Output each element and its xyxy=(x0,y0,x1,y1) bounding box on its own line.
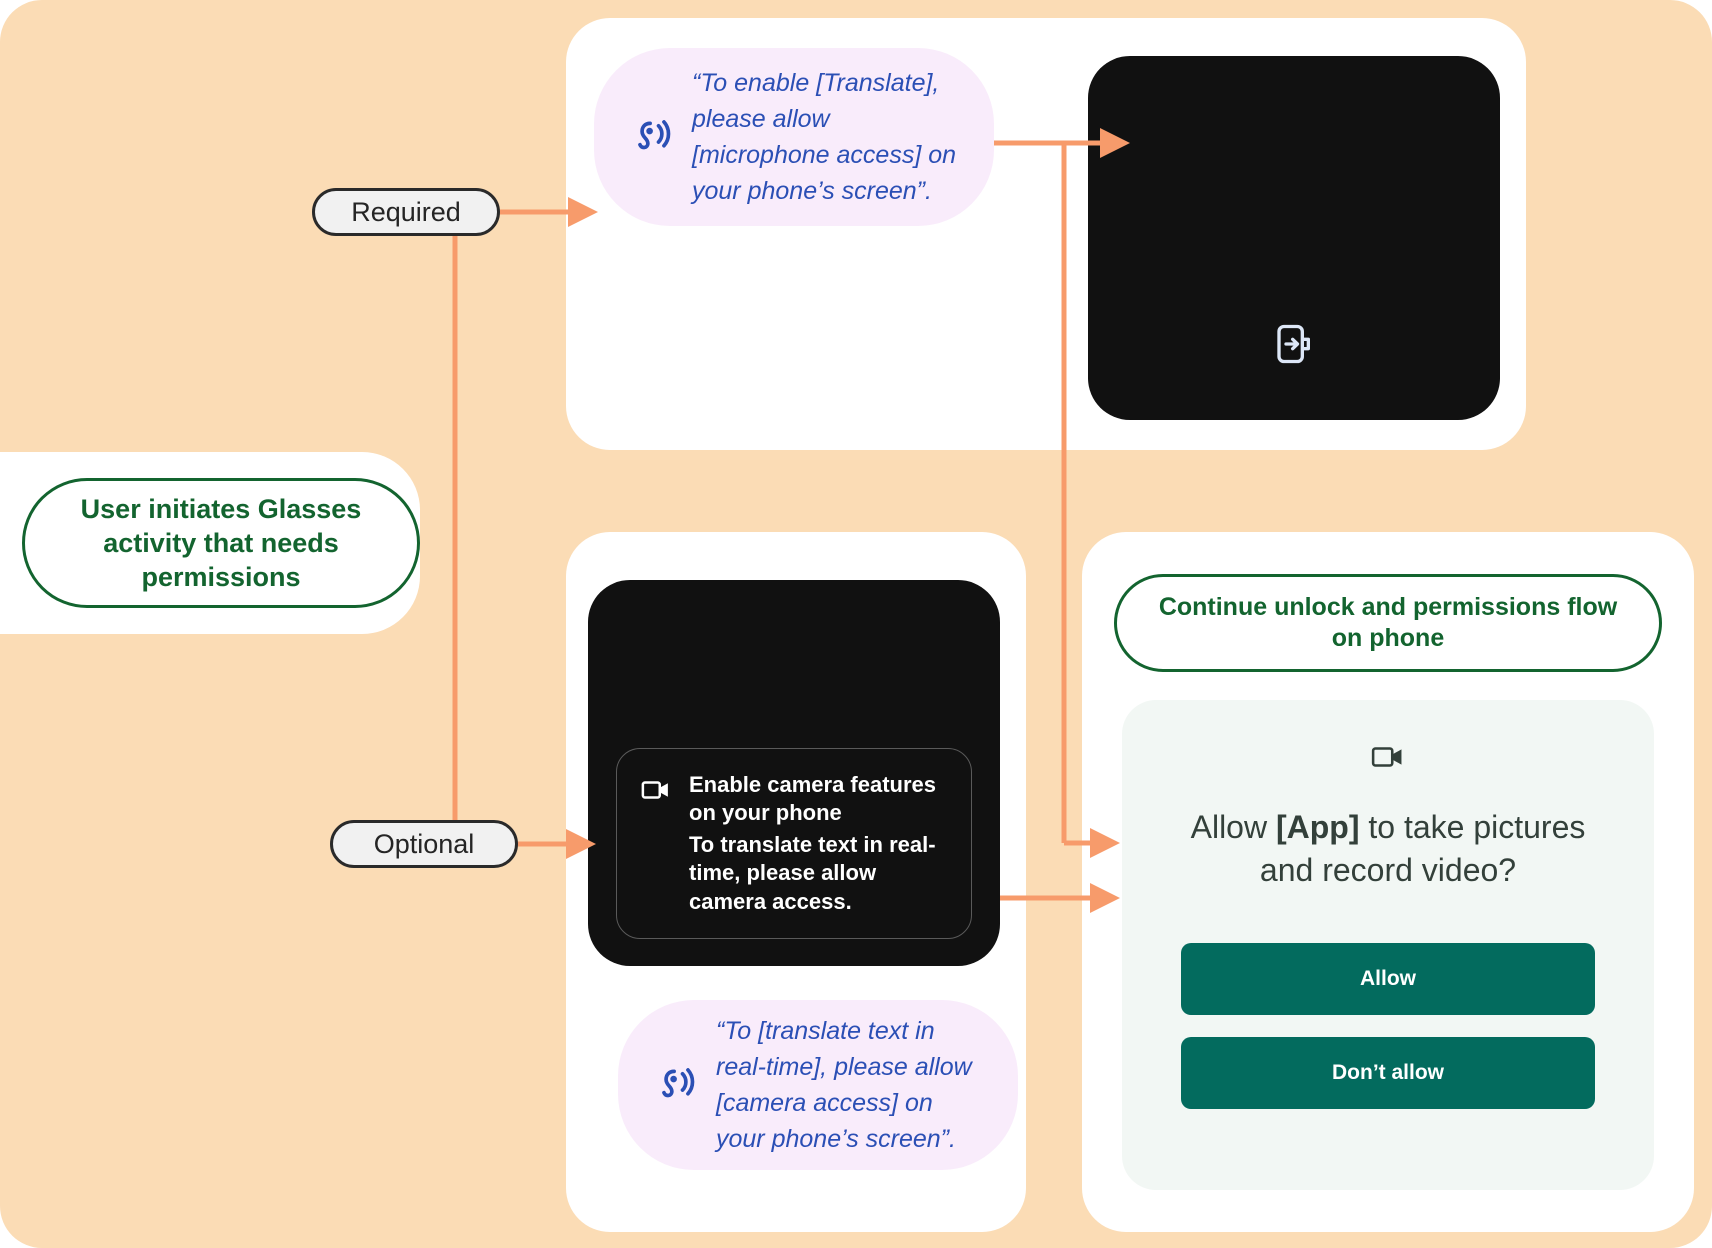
branch-pill-optional[interactable]: Optional xyxy=(330,820,518,868)
permission-title-prefix: Allow xyxy=(1191,809,1276,845)
camera-permission-toast: Enable camera features on your phone To … xyxy=(616,748,972,939)
continue-unlock-node[interactable]: Continue unlock and permissions flow on … xyxy=(1114,574,1662,672)
start-node[interactable]: User initiates Glasses activity that nee… xyxy=(22,478,420,608)
exit-to-phone-icon-wrap xyxy=(1274,322,1314,366)
speech-bubble-microphone: “To enable [Translate], please allow [mi… xyxy=(594,48,994,226)
glasses-screen-required xyxy=(1088,56,1500,420)
speech-bubble-camera: “To [translate text in real-time], pleas… xyxy=(618,1000,1018,1170)
speech-bubble-camera-text: “To [translate text in real-time], pleas… xyxy=(716,1013,982,1157)
exit-to-phone-icon xyxy=(1274,322,1314,366)
video-camera-icon xyxy=(641,775,671,805)
android-permission-dialog: Allow [App] to take pictures and record … xyxy=(1122,700,1654,1190)
branch-pill-required[interactable]: Required xyxy=(312,188,500,236)
permission-dialog-title: Allow [App] to take pictures and record … xyxy=(1160,806,1616,891)
ear-hearing-icon xyxy=(654,1064,696,1106)
toast-body-text: To translate text in real-time, please a… xyxy=(689,831,947,915)
speech-bubble-microphone-text: “To enable [Translate], please allow [mi… xyxy=(692,65,958,209)
permission-title-app: [App] xyxy=(1276,809,1360,845)
allow-button[interactable]: Allow xyxy=(1181,943,1595,1015)
toast-title: Enable camera features on your phone xyxy=(689,771,947,827)
glasses-screen-optional: Enable camera features on your phone To … xyxy=(588,580,1000,966)
video-camera-icon xyxy=(1371,740,1405,774)
dont-allow-button[interactable]: Don’t allow xyxy=(1181,1037,1595,1109)
diagram-canvas: User initiates Glasses activity that nee… xyxy=(0,0,1712,1248)
ear-hearing-icon xyxy=(630,116,672,158)
